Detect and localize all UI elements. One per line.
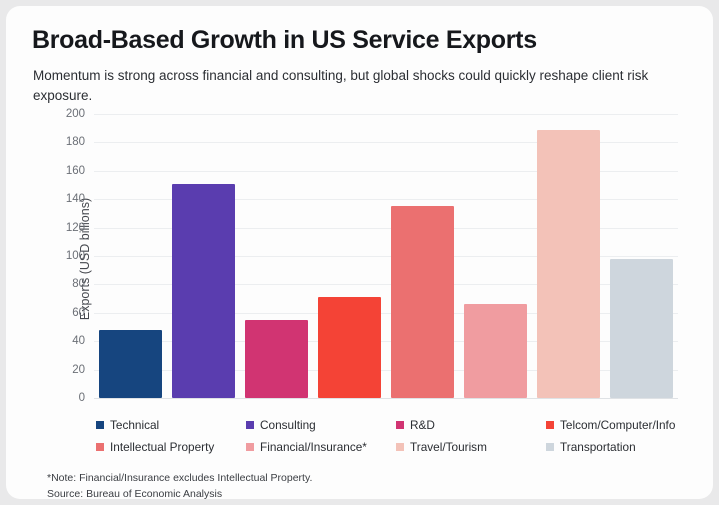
bar-r-d[interactable] bbox=[245, 320, 307, 398]
chart-card: Broad-Based Growth in US Service Exports… bbox=[6, 6, 713, 499]
legend-label: Financial/Insurance* bbox=[260, 440, 367, 454]
legend-swatch-icon bbox=[246, 443, 254, 451]
legend-swatch-icon bbox=[546, 421, 554, 429]
legend-label: Technical bbox=[110, 418, 159, 432]
legend-label: Transportation bbox=[560, 440, 636, 454]
y-axis-tick-label: 60 bbox=[72, 307, 85, 319]
page-title: Broad-Based Growth in US Service Exports bbox=[32, 26, 537, 55]
legend-item[interactable]: Transportation bbox=[546, 436, 696, 458]
y-axis-tick-label: 160 bbox=[66, 165, 85, 177]
y-axis-tick-label: 120 bbox=[66, 222, 85, 234]
footnote-note: *Note: Financial/Insurance excludes Inte… bbox=[47, 470, 312, 486]
bar-series bbox=[94, 114, 678, 398]
legend-swatch-icon bbox=[96, 443, 104, 451]
legend-label: R&D bbox=[410, 418, 435, 432]
y-axis-tick-label: 80 bbox=[72, 278, 85, 290]
legend-swatch-icon bbox=[546, 443, 554, 451]
chart-legend: TechnicalConsultingR&DTelcom/Computer/In… bbox=[96, 414, 696, 458]
y-axis-tick-label: 20 bbox=[72, 364, 85, 376]
legend-item[interactable]: Telcom/Computer/Info bbox=[546, 414, 696, 436]
legend-label: Consulting bbox=[260, 418, 316, 432]
legend-item[interactable]: Technical bbox=[96, 414, 246, 436]
y-axis-tick-label: 180 bbox=[66, 136, 85, 148]
legend-swatch-icon bbox=[396, 421, 404, 429]
y-axis-tick-label: 40 bbox=[72, 335, 85, 347]
chart-subtitle: Momentum is strong across financial and … bbox=[33, 66, 673, 105]
x-axis-baseline bbox=[94, 398, 678, 399]
legend-item[interactable]: Financial/Insurance* bbox=[246, 436, 396, 458]
legend-item[interactable]: Consulting bbox=[246, 414, 396, 436]
footnote-source: Source: Bureau of Economic Analysis bbox=[47, 486, 312, 499]
plot-area: Exports (USD billions) 02040608010012014… bbox=[94, 114, 678, 404]
bar-intellectual-property[interactable] bbox=[391, 206, 453, 398]
y-axis-tick-label: 100 bbox=[66, 250, 85, 262]
legend-item[interactable]: R&D bbox=[396, 414, 546, 436]
chart-footnotes: *Note: Financial/Insurance excludes Inte… bbox=[47, 470, 312, 499]
y-axis-tick-label: 200 bbox=[66, 108, 85, 120]
legend-swatch-icon bbox=[246, 421, 254, 429]
bar-financial-insurance[interactable] bbox=[464, 304, 526, 398]
bar-consulting[interactable] bbox=[172, 184, 234, 398]
bar-technical[interactable] bbox=[99, 330, 161, 398]
legend-swatch-icon bbox=[396, 443, 404, 451]
legend-swatch-icon bbox=[96, 421, 104, 429]
legend-item[interactable]: Travel/Tourism bbox=[396, 436, 546, 458]
y-axis-tick-label: 140 bbox=[66, 193, 85, 205]
bar-telcom-computer-info[interactable] bbox=[318, 297, 380, 398]
legend-label: Travel/Tourism bbox=[410, 440, 487, 454]
bar-transportation[interactable] bbox=[610, 259, 672, 398]
legend-label: Telcom/Computer/Info bbox=[560, 418, 675, 432]
bar-travel-tourism[interactable] bbox=[537, 130, 599, 398]
legend-label: Intellectual Property bbox=[110, 440, 214, 454]
legend-item[interactable]: Intellectual Property bbox=[96, 436, 246, 458]
y-axis-tick-label: 0 bbox=[79, 392, 85, 404]
